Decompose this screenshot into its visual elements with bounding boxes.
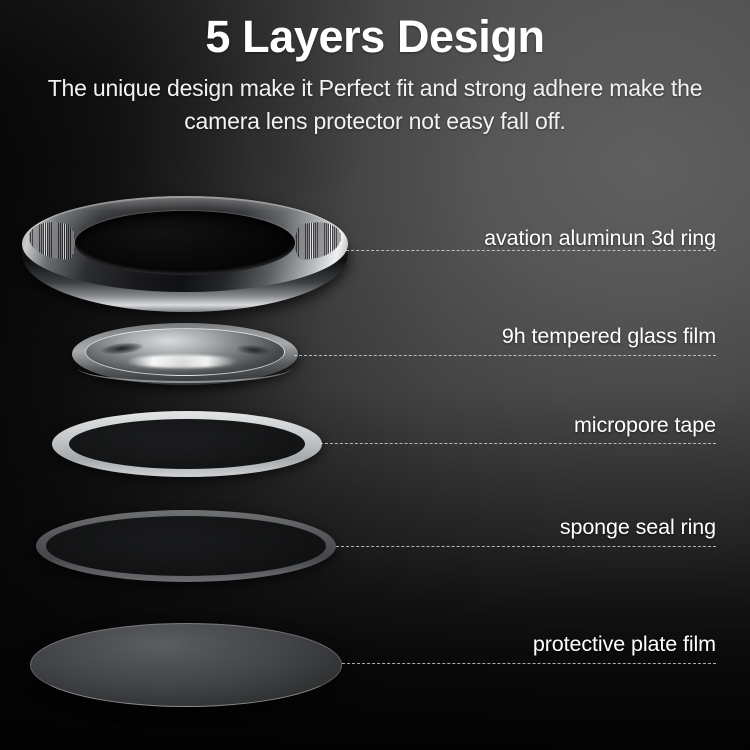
leader-line-layer-2 — [294, 355, 716, 356]
sponge-ring-aperture — [46, 516, 326, 576]
tempered-glass-disc-icon — [72, 323, 298, 385]
micropore-tape-ring-icon — [52, 411, 322, 477]
layer-label-tempered-glass: 9h tempered glass film — [502, 324, 716, 349]
plate-disc-rim — [30, 623, 342, 707]
header: 5 Layers Design The unique design make i… — [0, 0, 750, 138]
page-title: 5 Layers Design — [0, 0, 750, 66]
leader-line-layer-3 — [320, 443, 716, 444]
subtitle-line-1: The unique design make it Perfect fit an… — [48, 75, 703, 101]
subtitle-line-2: camera lens protector not easy fall off. — [0, 105, 750, 138]
layer-label-protective-plate-film: protective plate film — [533, 632, 716, 657]
sponge-seal-ring-icon — [36, 510, 336, 582]
glass-bottom-edge — [78, 353, 292, 383]
product-infographic: 5 Layers Design The unique design make i… — [0, 0, 750, 750]
layer-label-aluminum-ring: avation aluminun 3d ring — [484, 226, 716, 251]
leader-line-layer-4 — [336, 546, 716, 547]
page-subtitle: The unique design make it Perfect fit an… — [0, 66, 750, 138]
layer-label-micropore-tape: micropore tape — [574, 413, 716, 438]
aluminum-ring-3d-icon — [22, 196, 348, 312]
tape-ring-aperture — [69, 419, 305, 469]
leader-line-layer-5 — [342, 663, 716, 664]
protective-plate-disc-icon — [30, 623, 342, 707]
ring-rim-highlight — [22, 196, 348, 292]
layer-label-sponge-seal-ring: sponge seal ring — [560, 515, 716, 540]
